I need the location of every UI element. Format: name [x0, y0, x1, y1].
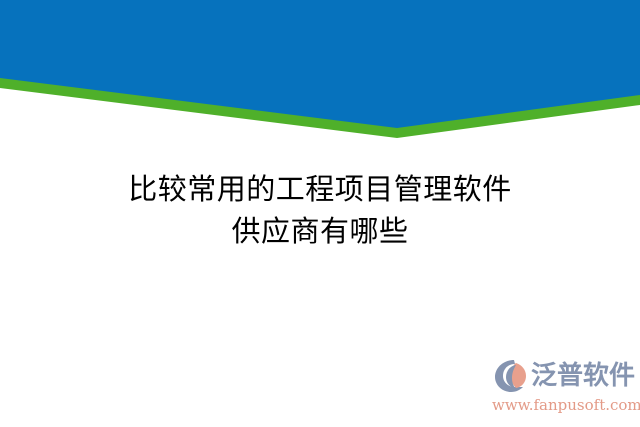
slide: 比较常用的工程项目管理软件 供应商有哪些 泛普软件 www.fanpusoft.… — [0, 0, 640, 427]
logo-url: www.fanpusoft.com — [492, 396, 632, 414]
page-title: 比较常用的工程项目管理软件 供应商有哪些 — [0, 168, 640, 252]
logo-row: 泛普软件 — [492, 357, 632, 395]
title-line-1: 比较常用的工程项目管理软件 — [0, 168, 640, 210]
header-banner — [0, 0, 640, 140]
header-banner-shape — [0, 0, 640, 140]
fanpu-swoosh-icon-svg — [492, 357, 530, 395]
logo-wordmark: 泛普软件 — [531, 361, 635, 391]
title-line-2: 供应商有哪些 — [0, 210, 640, 252]
fanpu-swoosh-icon — [492, 357, 530, 395]
watermark-logo: 泛普软件 www.fanpusoft.com — [492, 357, 632, 419]
